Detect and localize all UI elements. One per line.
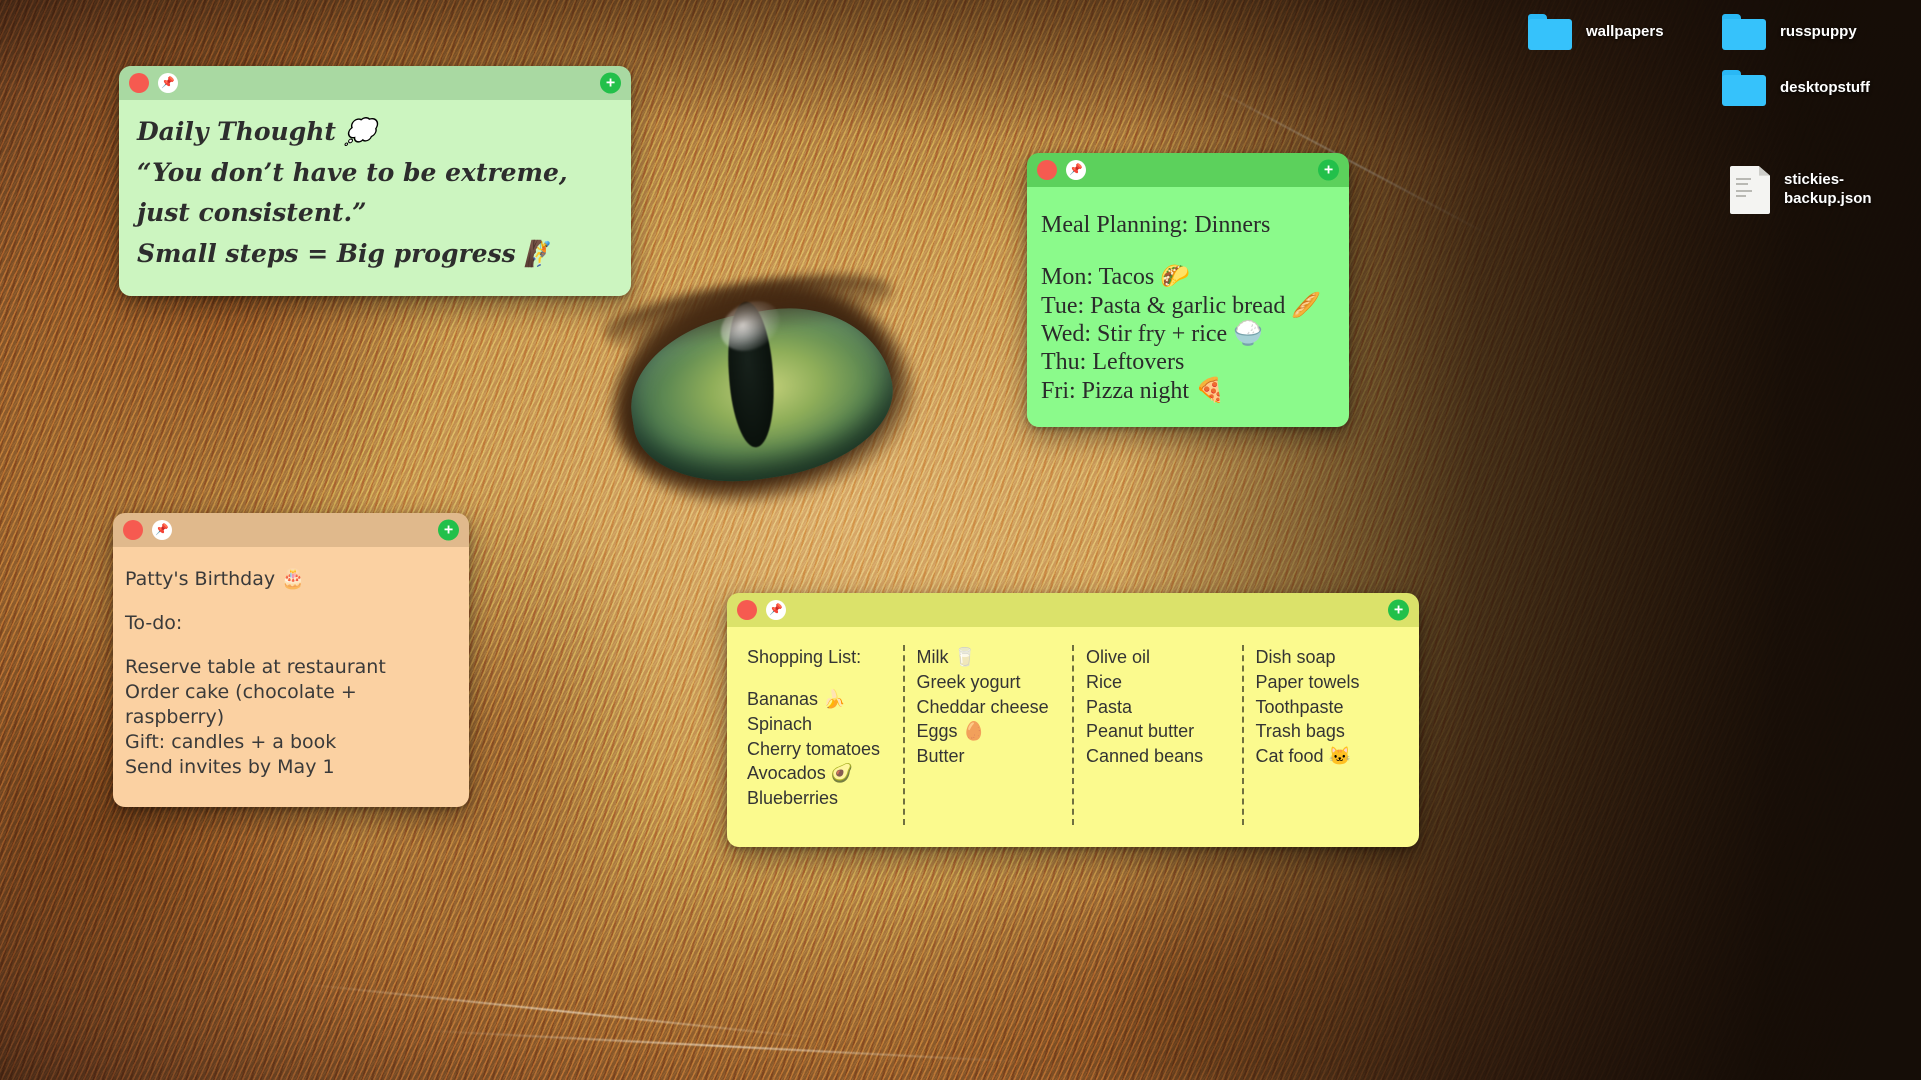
list-item: Cheddar cheese — [917, 695, 1061, 720]
sticky-note-birthday[interactable]: 📌 + Patty's Birthday 🎂 To-do: Reserve ta… — [113, 513, 469, 807]
note-body[interactable]: Daily Thought 💭 “You don’t have to be ex… — [119, 100, 631, 296]
note-body[interactable]: Shopping List: Bananas 🍌 Spinach Cherry … — [727, 627, 1419, 847]
list-item: Bananas 🍌 — [747, 687, 891, 712]
close-icon[interactable] — [1037, 160, 1057, 180]
desktop-icon-label: russpuppy — [1780, 23, 1857, 42]
folder-icon — [1722, 14, 1766, 50]
note-line: “You don’t have to be extreme, just cons… — [137, 153, 613, 234]
list-item: Cat food 🐱 — [1256, 744, 1400, 769]
note-line: Gift: candles + a book — [125, 730, 457, 755]
list-item: Paper towels — [1256, 670, 1400, 695]
pin-icon[interactable]: 📌 — [1066, 160, 1086, 180]
list-item: Canned beans — [1086, 744, 1230, 769]
note-line: Tue: Pasta & garlic bread 🥖 — [1041, 292, 1335, 320]
close-icon[interactable] — [123, 520, 143, 540]
desktop-icon-label: stickies- backup.json — [1784, 171, 1872, 209]
close-icon[interactable] — [737, 600, 757, 620]
shopping-column-pantry: Olive oil Rice Pasta Peanut butter Canne… — [1072, 645, 1242, 825]
list-item: Greek yogurt — [917, 670, 1061, 695]
list-item: Butter — [917, 744, 1061, 769]
note-header[interactable]: 📌 + — [727, 593, 1419, 627]
list-item: Eggs 🥚 — [917, 719, 1061, 744]
note-header[interactable]: 📌 + — [119, 66, 631, 100]
note-header[interactable]: 📌 + — [113, 513, 469, 547]
list-item: Olive oil — [1086, 645, 1230, 670]
add-note-button[interactable]: + — [1388, 600, 1409, 621]
note-line: Thu: Leftovers — [1041, 348, 1335, 376]
note-line: Shopping List: — [747, 645, 891, 670]
desktop-icon-russpuppy[interactable]: russpuppy — [1722, 14, 1857, 50]
note-line: Wed: Stir fry + rice 🍚 — [1041, 320, 1335, 348]
list-item: Pasta — [1086, 695, 1230, 720]
desktop-icon-stickies-backup[interactable]: stickies- backup.json — [1730, 166, 1872, 214]
list-item: Milk 🥛 — [917, 645, 1061, 670]
pin-icon[interactable]: 📌 — [766, 600, 786, 620]
list-item: Toothpaste — [1256, 695, 1400, 720]
pin-icon[interactable]: 📌 — [152, 520, 172, 540]
sticky-note-meal-planning[interactable]: 📌 + Meal Planning: Dinners Mon: Tacos 🌮 … — [1027, 153, 1349, 427]
note-line: Daily Thought 💭 — [137, 112, 613, 153]
document-icon — [1730, 166, 1770, 214]
note-spacer — [125, 636, 457, 655]
note-line: Mon: Tacos 🌮 — [1041, 263, 1335, 291]
folder-icon — [1528, 14, 1572, 50]
add-note-button[interactable]: + — [1318, 160, 1339, 181]
note-line: To-do: — [125, 611, 457, 636]
note-line: Reserve table at restaurant — [125, 655, 457, 680]
list-item: Spinach — [747, 712, 891, 737]
add-note-button[interactable]: + — [438, 520, 459, 541]
desktop-icon-desktopstuff[interactable]: desktopstuff — [1722, 70, 1870, 106]
shopping-column-produce: Shopping List: Bananas 🍌 Spinach Cherry … — [735, 645, 903, 825]
note-spacer — [1041, 239, 1335, 263]
note-spacer — [125, 592, 457, 611]
list-item: Trash bags — [1256, 719, 1400, 744]
note-line: Order cake (chocolate + raspberry) — [125, 680, 457, 730]
list-item: Dish soap — [1256, 645, 1400, 670]
note-spacer — [747, 670, 891, 687]
list-item: Avocados 🥑 — [747, 761, 891, 786]
note-body[interactable]: Patty's Birthday 🎂 To-do: Reserve table … — [113, 547, 469, 807]
note-line: Fri: Pizza night 🍕 — [1041, 377, 1335, 405]
list-item: Cherry tomatoes — [747, 737, 891, 762]
add-note-button[interactable]: + — [600, 73, 621, 94]
list-item: Rice — [1086, 670, 1230, 695]
note-line: Small steps = Big progress 🧗 — [137, 234, 613, 275]
sticky-note-daily-thought[interactable]: 📌 + Daily Thought 💭 “You don’t have to b… — [119, 66, 631, 296]
list-item: Peanut butter — [1086, 719, 1230, 744]
close-icon[interactable] — [129, 73, 149, 93]
desktop-icon-label: desktopstuff — [1780, 79, 1870, 98]
shopping-column-dairy: Milk 🥛 Greek yogurt Cheddar cheese Eggs … — [903, 645, 1073, 825]
desktop-icon-wallpapers[interactable]: wallpapers — [1528, 14, 1664, 50]
note-line: Send invites by May 1 — [125, 755, 457, 780]
note-line: Patty's Birthday 🎂 — [125, 567, 457, 592]
pin-icon[interactable]: 📌 — [158, 73, 178, 93]
note-header[interactable]: 📌 + — [1027, 153, 1349, 187]
folder-icon — [1722, 70, 1766, 106]
shopping-column-household: Dish soap Paper towels Toothpaste Trash … — [1242, 645, 1412, 825]
desktop-icon-label: wallpapers — [1586, 23, 1664, 42]
note-body[interactable]: Meal Planning: Dinners Mon: Tacos 🌮 Tue:… — [1027, 187, 1349, 427]
sticky-note-shopping-list[interactable]: 📌 + Shopping List: Bananas 🍌 Spinach Che… — [727, 593, 1419, 847]
note-line: Meal Planning: Dinners — [1041, 211, 1335, 239]
list-item: Blueberries — [747, 786, 891, 811]
